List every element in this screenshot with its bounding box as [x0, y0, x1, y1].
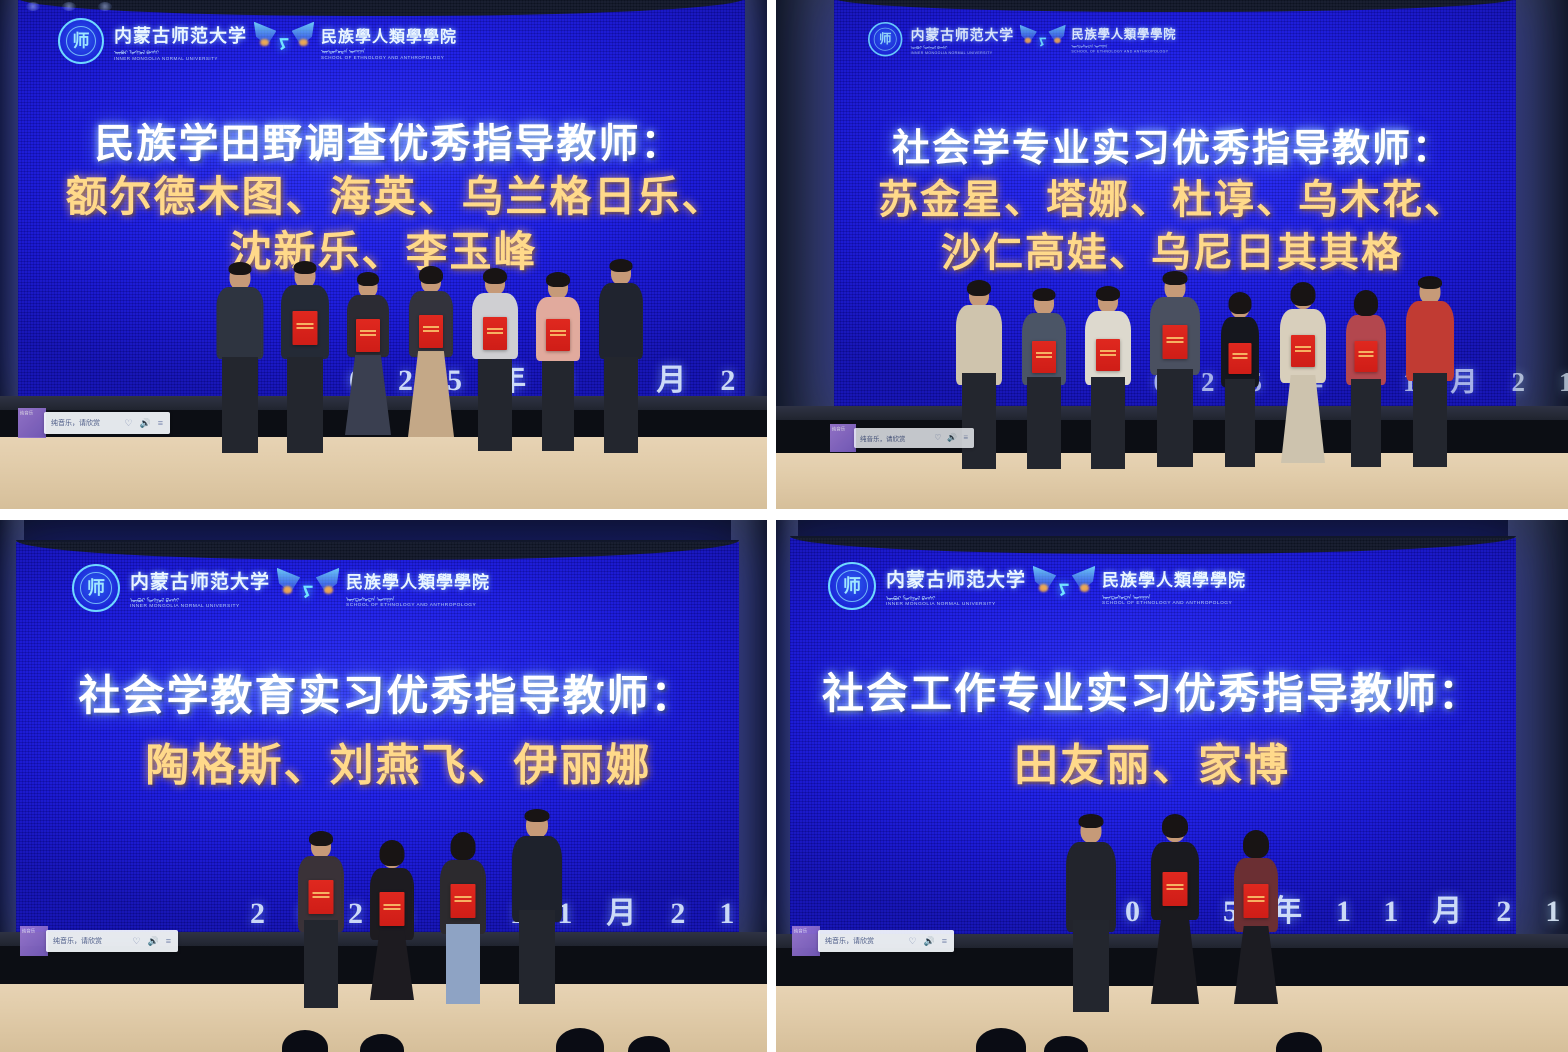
- person-legs: [962, 373, 996, 469]
- person-legs: [222, 357, 258, 453]
- heart-icon[interactable]: ♡: [124, 419, 132, 428]
- playlist-icon[interactable]: ≡: [963, 434, 968, 442]
- person-recipient: [1278, 269, 1328, 469]
- person-recipient: [344, 261, 392, 451]
- now-playing-text: 纯音乐，请欣赏: [860, 433, 906, 443]
- ceiling-lights: [26, 2, 112, 11]
- certificate: [380, 892, 405, 926]
- person-hair long: [1354, 290, 1378, 316]
- audience-head: [1044, 1036, 1088, 1052]
- person-hair: [1033, 288, 1056, 301]
- person-official: [214, 261, 266, 451]
- person-hair: [294, 261, 317, 274]
- person-hair: [525, 809, 550, 822]
- certificate: [1163, 872, 1188, 906]
- person-hair: [967, 280, 991, 296]
- player-thumbnail: 纯音乐: [18, 408, 46, 438]
- person-recipient: [1232, 796, 1280, 1006]
- player-thumb-label: 纯音乐: [20, 926, 45, 936]
- person-hair long: [1229, 292, 1252, 314]
- certificate: [1355, 341, 1378, 372]
- playlist-icon[interactable]: ≡: [158, 419, 163, 428]
- person-skirt: [370, 930, 414, 1000]
- music-player-bar[interactable]: 纯音乐，请欣赏 ♡ 🔊 ≡: [44, 412, 170, 434]
- person-legs: [1027, 377, 1061, 469]
- person-hair: [483, 268, 507, 284]
- person-legs: [1073, 920, 1109, 1012]
- player-icons: ♡ 🔊 ≡: [934, 434, 968, 442]
- person-skirt: [408, 351, 454, 437]
- person-recipient: [1084, 269, 1132, 469]
- person-legs: [446, 924, 480, 1004]
- photo-bottom-right: 师 内蒙古师范大学 ᠦᠪᠦᠷ ᠮᠣᠩᠭᠣᠯ ᠪᠠᠭᠰᠢ INNER MONGOL…: [776, 520, 1568, 1052]
- person-recipient: [534, 261, 582, 451]
- person-legs: [604, 357, 638, 453]
- person-recipient: [1150, 796, 1200, 1006]
- panel-top-left: 师 内蒙古师范大学 ᠦᠪᠦᠷ ᠮᠣᠩᠭᠣᠯ ᠪᠠᠭᠰᠢ INNER MONGOL…: [0, 0, 776, 520]
- audience-silhouettes: [776, 1002, 1568, 1052]
- music-player-bar[interactable]: 纯音乐，请欣赏 ♡ 🔊 ≡: [818, 930, 954, 952]
- playlist-icon[interactable]: ≡: [166, 937, 171, 946]
- volume-icon[interactable]: 🔊: [140, 419, 151, 428]
- person-hair: [357, 272, 379, 286]
- person-legs: [1225, 379, 1255, 467]
- now-playing-text: 纯音乐，请欣赏: [53, 936, 102, 946]
- panel-bottom-right: 师 内蒙古师范大学 ᠦᠪᠦᠷ ᠮᠣᠩᠭᠣᠯ ᠪᠠᠭᠰᠢ INNER MONGOL…: [776, 520, 1568, 1052]
- certificate: [1032, 341, 1056, 373]
- audience-head: [556, 1028, 604, 1052]
- certificate: [1096, 339, 1120, 371]
- person-skirt: [1151, 914, 1199, 1004]
- certificate: [483, 317, 507, 350]
- certificate: [309, 880, 334, 914]
- player-thumb-label: 纯音乐: [830, 424, 853, 434]
- person-torso: [1066, 842, 1116, 932]
- volume-icon[interactable]: 🔊: [924, 937, 935, 946]
- person-legs: [304, 920, 338, 1008]
- person-recipient: [296, 804, 346, 1004]
- award-recipients-group: [296, 804, 564, 1004]
- person-hair: [1418, 276, 1442, 289]
- player-thumb-label: 纯音乐: [18, 408, 43, 418]
- certificate: [356, 319, 380, 352]
- person-torso: [599, 283, 643, 359]
- person-official: [596, 261, 646, 451]
- person-hair: [546, 272, 570, 287]
- photo-top-left: 师 内蒙古师范大学 ᠦᠪᠦᠷ ᠮᠣᠩᠭᠣᠯ ᠪᠠᠭᠰᠢ INNER MONGOL…: [0, 0, 767, 509]
- audience-head: [282, 1030, 328, 1052]
- person-recipient: [368, 804, 416, 1004]
- person-recipient: [1148, 269, 1202, 469]
- person-hair long: [380, 840, 405, 866]
- person-recipient: [1218, 269, 1262, 469]
- photo-collage: 师 内蒙古师范大学 ᠦᠪᠦᠷ ᠮᠣᠩᠭᠣᠯ ᠪᠠᠭᠰᠢ INNER MONGOL…: [0, 0, 1568, 1052]
- playlist-icon[interactable]: ≡: [942, 937, 947, 946]
- person-legs: [1413, 373, 1447, 467]
- person-skirt: [1234, 926, 1278, 1004]
- person-recipient: [470, 261, 520, 451]
- certificate: [1244, 884, 1269, 918]
- person-recipient: [438, 804, 488, 1004]
- person-hair: [1079, 814, 1104, 828]
- certificate: [546, 319, 570, 351]
- person-legs: [287, 357, 323, 453]
- certificate: [451, 884, 476, 918]
- person-legs: [519, 910, 555, 1004]
- person-hair: [309, 831, 333, 846]
- certificate: [293, 311, 318, 345]
- person-hair long: [1291, 282, 1316, 306]
- person-recipient: [280, 261, 330, 451]
- certificate: [419, 315, 443, 348]
- person-hair: [1163, 271, 1188, 285]
- screen-bezel: [834, 0, 1516, 12]
- person-skirt: [345, 355, 391, 435]
- person-hair long: [451, 832, 476, 860]
- player-icons: ♡ 🔊 ≡: [908, 937, 947, 946]
- person-legs: [1351, 379, 1381, 467]
- screen-bezel: [790, 536, 1516, 554]
- person-official: [510, 804, 564, 1004]
- player-thumb-label: 纯音乐: [792, 926, 817, 936]
- person-legs: [1091, 377, 1125, 469]
- audience-head: [628, 1036, 670, 1052]
- person-recipient: [406, 261, 456, 451]
- person-official: [1064, 796, 1118, 1006]
- volume-icon[interactable]: 🔊: [148, 937, 159, 946]
- player-thumbnail: 纯音乐: [20, 926, 48, 956]
- player-thumbnail: 纯音乐: [830, 424, 856, 452]
- person-recipient: [1344, 269, 1388, 469]
- heart-icon[interactable]: ♡: [934, 434, 941, 442]
- person-hair: [610, 259, 633, 272]
- person-legs: [542, 361, 574, 451]
- volume-icon[interactable]: 🔊: [947, 434, 957, 442]
- person-hair: [229, 262, 252, 275]
- audience-head: [360, 1034, 404, 1052]
- screen-bezel: [18, 0, 745, 16]
- now-playing-text: 纯音乐，请欣赏: [51, 418, 100, 428]
- person-legs: [478, 359, 512, 451]
- player-thumbnail: 纯音乐: [792, 926, 820, 956]
- photo-top-right: 师 内蒙古师范大学 ᠦᠪᠦᠷ ᠮᠣᠩᠭᠣᠯ ᠪᠠᠭᠰᠢ INNER MONGOL…: [776, 0, 1568, 509]
- certificate: [1229, 343, 1252, 374]
- heart-icon[interactable]: ♡: [908, 937, 916, 946]
- award-recipients-group: [1064, 796, 1280, 1006]
- certificate: [1291, 335, 1315, 367]
- now-playing-text: 纯音乐，请欣赏: [825, 936, 874, 946]
- photo-bottom-left: 师 内蒙古师范大学 ᠦᠪᠦᠷ ᠮᠣᠩᠭᠣᠯ ᠪᠠᠭᠰᠢ INNER MONGOL…: [0, 520, 767, 1052]
- person-hair: [419, 266, 443, 284]
- person-torso: [1406, 301, 1454, 381]
- screen-bezel: [16, 540, 739, 560]
- person-official: [1404, 269, 1456, 469]
- player-icons: ♡ 🔊 ≡: [132, 937, 171, 946]
- award-recipients-group: [214, 261, 646, 451]
- heart-icon[interactable]: ♡: [132, 937, 140, 946]
- person-hair long: [1243, 830, 1269, 858]
- person-hair: [1096, 286, 1120, 301]
- person-skirt: [1281, 375, 1325, 463]
- person-recipient: [1020, 269, 1068, 469]
- person-torso: [217, 287, 264, 359]
- audience-head: [976, 1028, 1026, 1052]
- player-icons: ♡ 🔊 ≡: [124, 419, 163, 428]
- music-player-bar[interactable]: 纯音乐，请欣赏 ♡ 🔊 ≡: [854, 428, 974, 448]
- person-legs: [1157, 369, 1193, 467]
- audience-head: [1276, 1032, 1322, 1052]
- certificate: [1163, 325, 1188, 359]
- panel-top-right: 师 内蒙古师范大学 ᠦᠪᠦᠷ ᠮᠣᠩᠭᠣᠯ ᠪᠠᠭᠰᠢ INNER MONGOL…: [776, 0, 1568, 520]
- award-recipients-group: [954, 269, 1456, 469]
- audience-silhouettes: [0, 998, 767, 1052]
- person-hair long: [1162, 814, 1188, 838]
- panel-bottom-left: 师 内蒙古师范大学 ᠦᠪᠦᠷ ᠮᠣᠩᠭᠣᠯ ᠪᠠᠭᠰᠢ INNER MONGOL…: [0, 520, 776, 1052]
- music-player-bar[interactable]: 纯音乐，请欣赏 ♡ 🔊 ≡: [46, 930, 178, 952]
